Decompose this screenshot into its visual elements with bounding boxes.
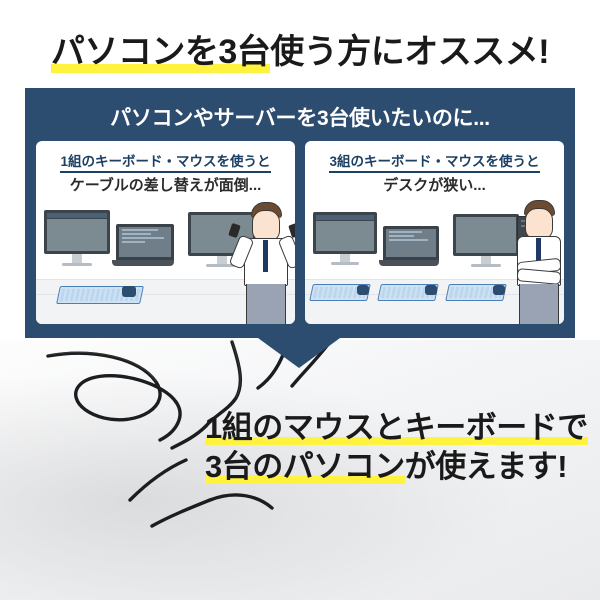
problem-card-list: 1組のキーボード・マウスを使うと ケーブルの差し替えが面倒... [36, 141, 564, 324]
monitor-titlebar [316, 215, 374, 221]
laptop-icon [116, 224, 174, 266]
monitor-stand [217, 256, 227, 264]
laptop-screen [383, 226, 439, 260]
laptop-keyboard [112, 260, 174, 266]
problem-card-one-title: 1組のキーボード・マウスを使うと [36, 150, 295, 170]
laptop-icon [383, 226, 439, 266]
headline-highlight: パソコンを3台 [51, 33, 270, 73]
problem-card-three-title: 3組のキーボード・マウスを使うと [305, 150, 564, 170]
monitor-icon [453, 214, 519, 256]
page-title: パソコンを3台使う方にオススメ! [0, 24, 600, 73]
mouse-highlight-1 [357, 285, 369, 295]
shared-mouse-highlight [122, 286, 136, 297]
illustration-three-sets [305, 198, 564, 324]
panel-arrow-down-icon [258, 338, 340, 368]
monitor-stand [340, 254, 350, 262]
monitor-icon [313, 212, 377, 254]
illustration-one-set [36, 198, 295, 324]
problem-card-one-subtitle: ケーブルの差し替えが面倒... [36, 174, 295, 195]
monitor-titlebar [47, 213, 107, 219]
problem-card-three-subtitle: デスクが狭い... [305, 174, 564, 195]
monitor-base [62, 263, 92, 266]
monitor-base [331, 262, 359, 265]
problem-card-three-sets: 3組のキーボード・マウスを使うと デスクが狭い... [305, 141, 564, 324]
monitor-screen [453, 214, 519, 256]
monitor-screen [44, 210, 110, 254]
benefit-line-two: 3台のパソコンが使えます! [205, 447, 588, 486]
monitor-stand [481, 256, 491, 264]
benefit-copy: 1組のマウスとキーボードで 3台のパソコンが使えます! [205, 408, 588, 486]
person-pants [246, 284, 286, 324]
problem-card-one-set: 1組のキーボード・マウスを使うと ケーブルの差し替えが面倒... [36, 141, 295, 324]
mouse-highlight-3 [493, 285, 505, 295]
benefit-line-two-highlight: 3台のパソコン [205, 449, 405, 484]
monitor-icon [44, 210, 110, 254]
monitor-base [471, 264, 501, 267]
headline-highlight-text: パソコンを3台 [51, 33, 270, 71]
problem-panel: パソコンやサーバーを3台使いたいのに... 1組のキーボード・マウスを使うと ケ… [25, 88, 575, 338]
headline-rest-text: 使う方にオススメ! [270, 33, 549, 71]
mouse-highlight-2 [425, 285, 437, 295]
laptop-screen [116, 224, 174, 260]
benefit-line-one: 1組のマウスとキーボードで [205, 408, 588, 447]
benefit-line-two-rest: が使えます! [405, 449, 567, 484]
product-promo-banner: パソコンを3台使う方にオススメ! パソコンやサーバーを3台使いたいのに... 1… [0, 0, 600, 600]
laptop-keyboard [379, 260, 439, 266]
benefit-line-one-highlight: 1組のマウスとキーボードで [205, 410, 588, 445]
problem-panel-title: パソコンやサーバーを3台使いたいのに... [25, 102, 575, 132]
monitor-screen [313, 212, 377, 254]
monitor-stand [72, 254, 82, 263]
person-pants [519, 284, 559, 324]
person-tie [263, 240, 268, 272]
